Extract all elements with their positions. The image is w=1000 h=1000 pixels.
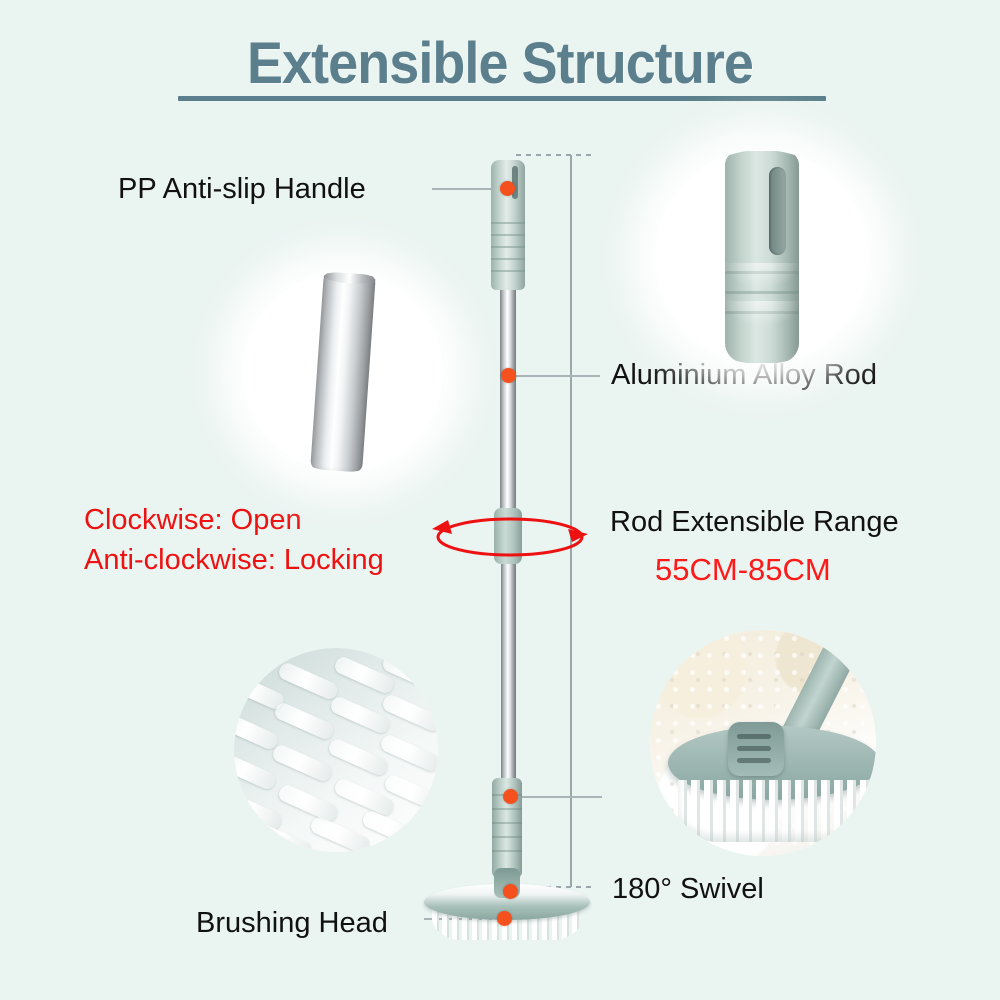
range-note-value: 55CM-85CM	[655, 551, 831, 589]
pp-handle-grip	[491, 160, 525, 290]
inset-swivel-photo	[650, 630, 876, 856]
leader-line-swivel	[520, 796, 602, 798]
marker-dot-handle	[500, 181, 515, 196]
leader-line-rod	[514, 375, 600, 377]
aluminium-rod-lower	[501, 560, 516, 782]
callout-rod-label: Aluminium Alloy Rod	[611, 358, 877, 394]
photo-swivel-joint	[728, 722, 784, 776]
aluminium-tube-sample	[310, 272, 376, 472]
marker-dot-brush-head	[497, 911, 512, 926]
callout-swivel-label: 180° Swivel	[612, 872, 764, 908]
marker-dot-swivel	[503, 789, 518, 804]
aluminium-rod-upper	[500, 286, 516, 518]
rotation-direction-arrows	[430, 498, 590, 576]
photo-bristles	[678, 780, 874, 842]
range-note-label: Rod Extensible Range	[610, 505, 899, 541]
page-title: Extensible Structure	[35, 30, 965, 97]
hang-slot	[769, 167, 786, 255]
inset-bristle-closeup	[234, 648, 438, 852]
infographic-canvas: Extensible Structure	[0, 0, 1000, 1000]
rotation-note-line2: Anti-clockwise: Locking	[84, 543, 384, 579]
callout-brush-head-label: Brushing Head	[196, 906, 388, 942]
title-underline	[178, 96, 826, 101]
inset-aluminium-rod	[243, 272, 443, 472]
rotation-note-line1: Clockwise: Open	[84, 503, 302, 539]
callout-handle-label: PP Anti-slip Handle	[118, 172, 366, 208]
marker-dot-rod	[501, 368, 516, 383]
measure-guide-top	[516, 154, 592, 156]
marker-dot-swivel-joint	[503, 884, 518, 899]
pp-handle-sample	[725, 151, 799, 363]
inset-pp-handle	[655, 150, 869, 364]
